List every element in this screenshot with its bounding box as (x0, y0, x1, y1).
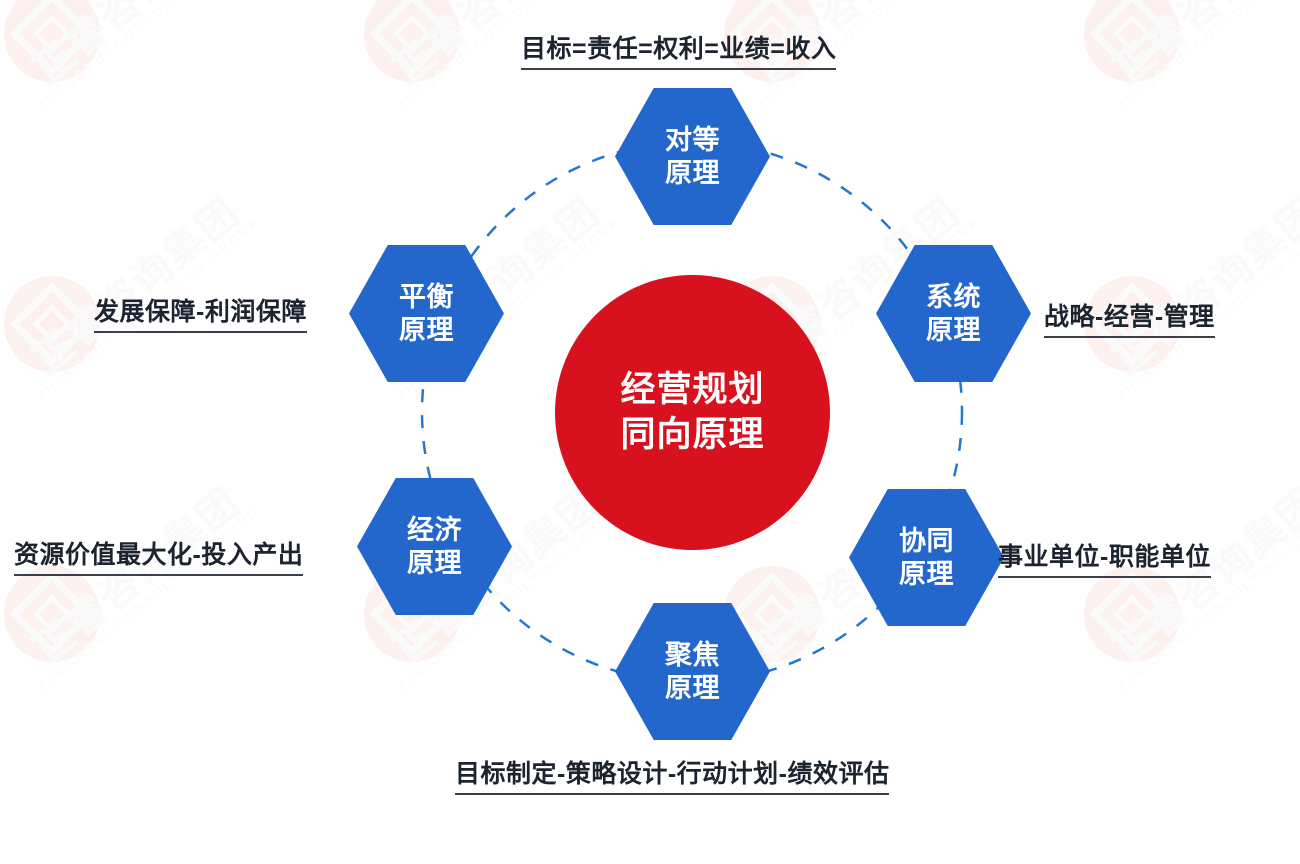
hex-label-line1: 系统 (926, 281, 981, 314)
hex-label-line2: 原理 (926, 314, 981, 347)
hex-label-line2: 原理 (665, 157, 720, 190)
outer-label-pingheng: 发展保障-利润保障 (94, 292, 307, 333)
hex-label-line2: 原理 (399, 314, 454, 347)
diagram-canvas: 正睿咨询集团 ZHENGRUI CONSULTING GROUP 正睿咨询集团 … (0, 0, 1300, 864)
hex-label-line1: 对等 (665, 124, 720, 157)
hex-label-line1: 聚焦 (665, 639, 720, 672)
outer-label-jingji: 资源价值最大化-投入产出 (14, 535, 303, 576)
center-title-line1: 经营规划 (620, 368, 764, 413)
hex-label-line1: 平衡 (399, 281, 454, 314)
hex-label-line1: 协同 (899, 525, 954, 558)
hex-label-line2: 原理 (407, 547, 462, 580)
center-circle: 经营规划 同向原理 (555, 275, 830, 550)
hex-label-line2: 原理 (899, 558, 954, 591)
outer-label-xietong: 事业单位-职能单位 (998, 537, 1211, 578)
hex-label-line1: 经济 (407, 514, 462, 547)
center-title-line2: 同向原理 (620, 413, 764, 458)
outer-label-jujiao: 目标制定-策略设计-行动计划-绩效评估 (455, 754, 889, 795)
outer-label-dengdeng: 目标=责任=权利=业绩=收入 (521, 29, 836, 70)
outer-label-xitong: 战略-经营-管理 (1044, 297, 1215, 338)
hex-label-line2: 原理 (665, 672, 720, 705)
